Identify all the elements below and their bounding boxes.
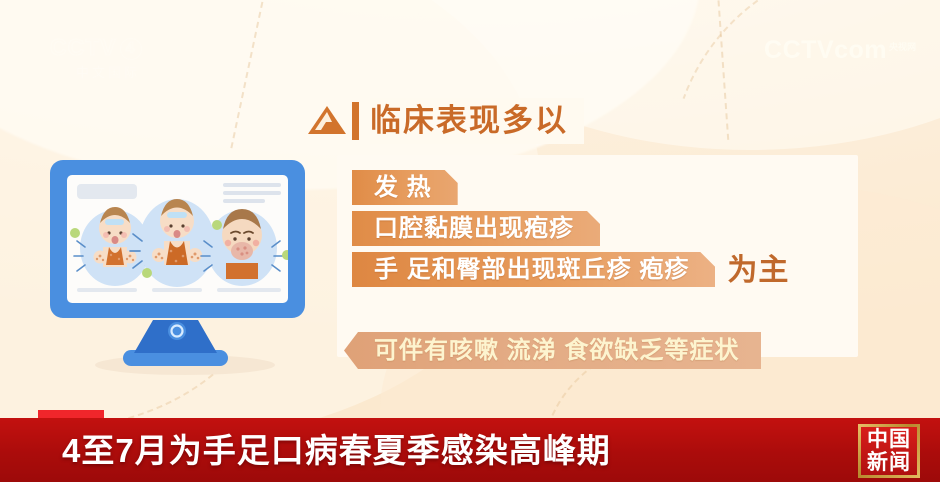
broadcast-frame: CCTV4 中文国际 CCTVcom央视网 — [0, 0, 940, 482]
cctv4-subtitle: 中文国际 — [50, 62, 166, 81]
triangle-marker-icon — [306, 104, 348, 138]
heading-text: 临床表现多以 — [370, 105, 568, 136]
symptom-label: 发 热 — [374, 176, 432, 200]
china-news-logo: 中国 新闻 — [858, 424, 920, 478]
cctv-com-watermark: CCTVcom央视网 — [764, 38, 916, 63]
monitor-svg — [45, 155, 310, 385]
cctv4-channel-number: 4 — [120, 38, 142, 60]
symptom-label: 口腔黏膜出现疱疹 — [374, 217, 574, 241]
cctv4-logo: CCTV4 中文国际 — [50, 34, 166, 82]
accompanying-symptoms-label: 可伴有咳嗽 流涕 食欲缺乏等症状 — [374, 339, 739, 363]
symptom-list: 发 热 口腔黏膜出现疱疹 手 足和臀部出现斑丘疹 疱疹 为主 可伴有咳嗽 流涕 … — [352, 170, 789, 293]
symptom-row-3: 手 足和臀部出现斑丘疹 疱疹 为主 — [352, 252, 789, 293]
symptom-row-2: 口腔黏膜出现疱疹 — [352, 211, 789, 252]
illustration-monitor — [45, 155, 310, 385]
china-news-logo-line2: 新闻 — [867, 452, 911, 473]
accompanying-symptoms-badge: 可伴有咳嗽 流涕 食欲缺乏等症状 — [344, 332, 761, 369]
heading-plate: 临床表现多以 — [370, 98, 584, 144]
china-news-logo-inner: 中国 新闻 — [861, 427, 917, 475]
banner-headline: 4至7月为手足口病春夏季感染高峰期 — [62, 434, 611, 467]
news-ticker-banner: 4至7月为手足口病春夏季感染高峰期 — [0, 418, 940, 482]
symptom-row-1: 发 热 — [352, 170, 789, 211]
vertical-bar-icon — [352, 102, 359, 140]
cctv-com-watermark-cn: 央视网 — [889, 42, 916, 52]
symptom-badge-oral-herpes: 口腔黏膜出现疱疹 — [352, 211, 600, 246]
section-heading: 临床表现多以 — [306, 98, 584, 144]
cctv4-wordmark: CCTV4 — [50, 34, 166, 60]
symptom-badge-rash: 手 足和臀部出现斑丘疹 疱疹 — [352, 252, 715, 287]
symptom-label: 手 足和臀部出现斑丘疹 疱疹 — [374, 258, 689, 282]
symptom-suffix: 为主 — [727, 256, 789, 286]
symptom-badge-fever: 发 热 — [352, 170, 458, 205]
china-news-logo-line1: 中国 — [867, 429, 911, 450]
